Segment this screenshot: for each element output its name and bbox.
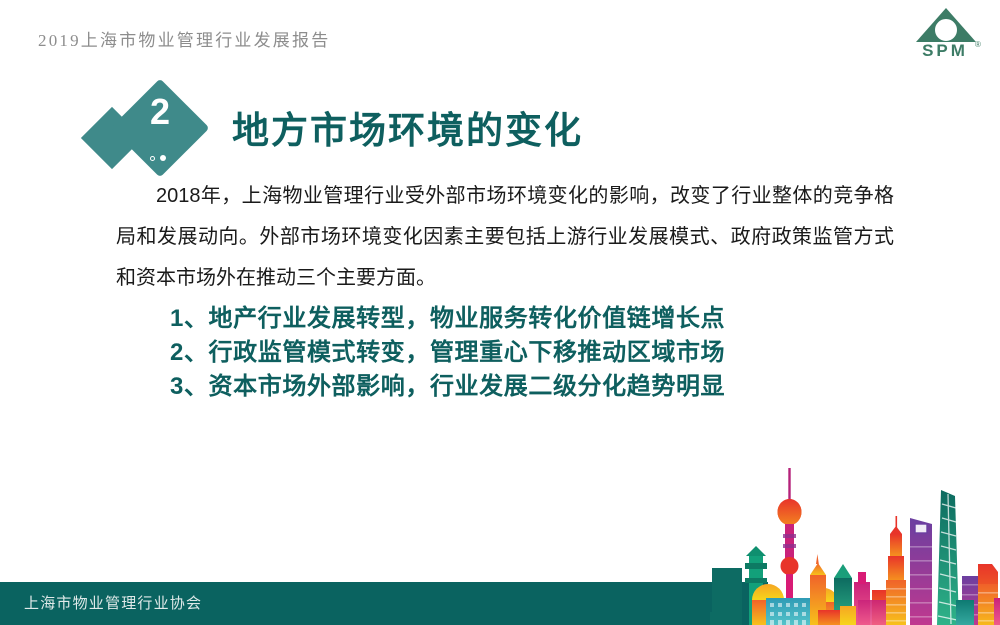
slide: 2019上海市物业管理行业发展报告 SPM ® 2 地方市场环境的变化 2018… [0, 0, 1000, 625]
dot-hollow-icon [150, 156, 155, 161]
spm-logo-text: SPM [912, 42, 978, 59]
header-report-title: 2019上海市物业管理行业发展报告 [38, 26, 330, 51]
registered-trademark-icon: ® [975, 40, 981, 49]
body-paragraph: 2018年，上海物业管理行业受外部市场环境变化的影响，改变了行业整体的竞争格局和… [116, 176, 894, 299]
key-points-list: 1、地产行业发展转型，物业服务转化价值链增长点 2、行政监管模式转变，管理重心下… [170, 302, 725, 404]
list-item: 3、资本市场外部影响，行业发展二级分化趋势明显 [170, 370, 725, 404]
badge-dots [150, 155, 166, 161]
list-item: 1、地产行业发展转型，物业服务转化价值链增长点 [170, 302, 725, 336]
dot-solid-icon [160, 155, 166, 161]
section-number: 2 [137, 94, 183, 130]
section-title: 地方市场环境的变化 [232, 100, 583, 154]
spm-triangle-icon [912, 6, 984, 46]
spm-logo: SPM ® [912, 6, 984, 64]
footer-organization: 上海市物业管理行业协会 [24, 592, 202, 613]
shanghai-skyline-illustration [710, 460, 1000, 625]
list-item: 2、行政监管模式转变，管理重心下移推动区域市场 [170, 336, 725, 370]
section-number-badge: 2 [88, 86, 218, 182]
